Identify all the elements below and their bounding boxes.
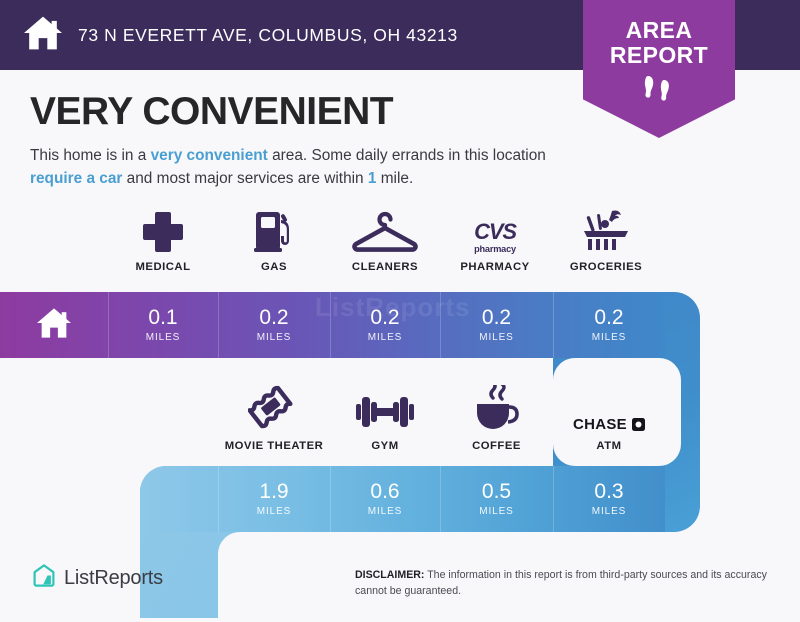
category-label: PHARMACY xyxy=(440,261,550,273)
row1-icon-row: MEDICAL GAS CLEANERS xyxy=(0,206,800,273)
distance-value: 0.2 xyxy=(259,307,288,328)
distance-cell-gym: 0.6 MILES xyxy=(330,466,440,532)
grocery-basket-icon xyxy=(550,206,662,254)
category-label: CLEANERS xyxy=(330,261,440,273)
distance-unit: MILES xyxy=(146,332,181,343)
summary-text: This home is in a very convenient area. … xyxy=(30,144,570,190)
footprints-icon xyxy=(583,74,735,104)
category-label: MEDICAL xyxy=(108,261,218,273)
category-label: GAS xyxy=(218,261,330,273)
category-label: ATM xyxy=(553,440,665,452)
category-medical: MEDICAL xyxy=(108,206,218,273)
distance-value: 0.6 xyxy=(370,481,399,502)
distance-unit: MILES xyxy=(257,332,292,343)
gas-pump-icon xyxy=(218,206,330,254)
distance-cell-coffee: 0.5 MILES xyxy=(440,466,553,532)
distance-unit: MILES xyxy=(592,332,627,343)
row2-spacer-segment xyxy=(140,466,218,532)
row1-distance-bar: 0.1 MILES 0.2 MILES 0.2 MILES 0.2 MILES … xyxy=(0,292,665,358)
category-label: GYM xyxy=(330,440,440,452)
summary-part-4: mile. xyxy=(376,170,413,187)
distance-cell-atm: 0.3 MILES xyxy=(553,466,665,532)
property-address: 73 N EVERETT AVE, COLUMBUS, OH 43213 xyxy=(78,25,458,46)
distance-cell-cleaners: 0.2 MILES xyxy=(330,292,440,358)
distance-value: 0.3 xyxy=(594,481,623,502)
listreports-house-icon xyxy=(32,563,56,593)
distance-unit: MILES xyxy=(368,506,403,517)
distance-value: 1.9 xyxy=(259,481,288,502)
category-label: COFFEE xyxy=(440,440,553,452)
badge-line-2: REPORT xyxy=(583,43,735,68)
row2-distance-bar: 1.9 MILES 0.6 MILES 0.5 MILES 0.3 MILES xyxy=(140,466,665,532)
disclaimer: DISCLAIMER: The information in this repo… xyxy=(355,567,775,600)
category-pharmacy: CVS pharmacy PHARMACY xyxy=(440,206,550,273)
clothes-hanger-icon xyxy=(330,206,440,254)
row2-icon-row: MOVIE THEATER GYM xyxy=(0,385,800,452)
category-label: MOVIE THEATER xyxy=(218,440,330,452)
cvs-pharmacy-logo-icon: CVS pharmacy xyxy=(440,206,550,254)
chase-bank-logo-icon: CHASE xyxy=(553,385,665,433)
medical-cross-icon xyxy=(108,206,218,254)
distance-value: 0.5 xyxy=(482,481,511,502)
home-icon xyxy=(35,306,73,345)
category-gas: GAS xyxy=(218,206,330,273)
category-movie-theater: MOVIE THEATER xyxy=(218,385,330,452)
dumbbell-icon xyxy=(330,385,440,433)
distance-value: 0.2 xyxy=(594,307,623,328)
badge-line-1: AREA xyxy=(583,18,735,43)
page-title: VERY CONVENIENT xyxy=(30,90,393,134)
summary-highlight-2: require a car xyxy=(30,170,122,187)
distance-value: 0.1 xyxy=(148,307,177,328)
area-report-badge: AREA REPORT xyxy=(583,0,735,138)
category-label: GROCERIES xyxy=(550,261,662,273)
distance-cell-pharmacy: 0.2 MILES xyxy=(440,292,553,358)
distance-value: 0.2 xyxy=(370,307,399,328)
distance-cell-movie-theater: 1.9 MILES xyxy=(218,466,330,532)
path-connector-left-notch xyxy=(218,532,338,622)
area-report-page: 73 N EVERETT AVE, COLUMBUS, OH 43213 ARE… xyxy=(0,0,800,618)
distance-unit: MILES xyxy=(592,506,627,517)
category-atm: CHASE ATM xyxy=(553,385,665,452)
movie-ticket-icon xyxy=(218,385,330,433)
distance-cell-gas: 0.2 MILES xyxy=(218,292,330,358)
summary-part-2: area. Some daily errands in this locatio… xyxy=(268,147,546,164)
category-groceries: GROCERIES xyxy=(550,206,662,273)
distance-unit: MILES xyxy=(479,506,514,517)
category-cleaners: CLEANERS xyxy=(330,206,440,273)
category-coffee: COFFEE xyxy=(440,385,553,452)
coffee-cup-icon xyxy=(440,385,553,433)
disclaimer-label: DISCLAIMER: xyxy=(355,569,424,581)
distance-unit: MILES xyxy=(257,506,292,517)
distance-unit: MILES xyxy=(368,332,403,343)
category-gym: GYM xyxy=(330,385,440,452)
listreports-logo-text: ListReports xyxy=(64,567,163,590)
distance-cell-groceries: 0.2 MILES xyxy=(553,292,665,358)
summary-part-3: and most major services are within xyxy=(122,170,367,187)
summary-highlight-1: very convenient xyxy=(151,147,268,164)
summary-part-1: This home is in a xyxy=(30,147,151,164)
row1-home-segment xyxy=(0,292,108,358)
home-icon xyxy=(22,14,64,57)
distance-cell-medical: 0.1 MILES xyxy=(108,292,218,358)
listreports-logo: ListReports xyxy=(32,563,163,593)
distance-unit: MILES xyxy=(479,332,514,343)
distance-value: 0.2 xyxy=(482,307,511,328)
